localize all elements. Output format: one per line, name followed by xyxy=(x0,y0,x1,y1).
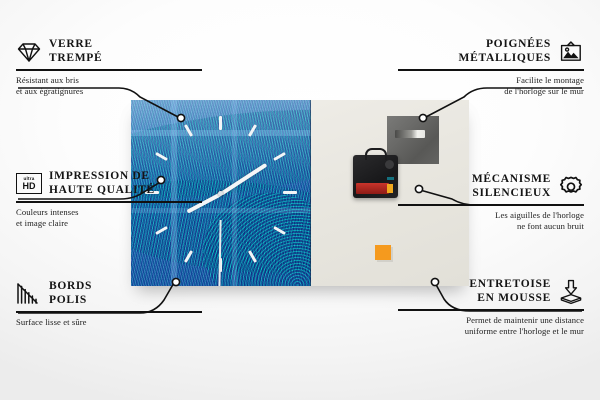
feature-mecanisme-silencieux[interactable]: MÉCANISME SILENCIEUX Les aiguilles de l'… xyxy=(398,173,584,233)
feature-title-line2: SILENCIEUX xyxy=(472,187,551,201)
feature-subtitle-line1: Résistant aux bris xyxy=(16,75,202,87)
feature-divider xyxy=(16,311,202,312)
feature-divider xyxy=(398,204,584,205)
feature-subtitle: Facilite le montage de l'horloge sur le … xyxy=(398,75,584,98)
feature-title-line1: IMPRESSION DE xyxy=(49,170,155,184)
polished-edge-icon xyxy=(16,282,42,306)
ultra-hd-icon-main-text: HD xyxy=(23,182,36,191)
feature-title: VERRE TREMPÉ xyxy=(49,38,102,65)
feature-subtitle-line1: Permet de maintenir une distance xyxy=(398,315,584,327)
ultra-hd-icon: ultra HD xyxy=(16,172,42,196)
feature-impression-haute-qualite[interactable]: ultra HD IMPRESSION DE HAUTE QUALITÉ Cou… xyxy=(16,170,202,230)
mechanism-contact xyxy=(387,177,394,180)
diamond-icon xyxy=(16,40,42,64)
feature-subtitle: Couleurs intenses et image claire xyxy=(16,207,202,230)
feature-title-line1: MÉCANISME xyxy=(472,173,551,187)
feature-subtitle-line1: Les aiguilles de l'horloge xyxy=(398,210,584,222)
feature-title-line1: ENTRETOISE xyxy=(469,278,551,292)
hanger-slot xyxy=(395,130,425,138)
feature-title: MÉCANISME SILENCIEUX xyxy=(472,173,551,200)
feature-subtitle-line1: Couleurs intenses xyxy=(16,207,202,219)
framed-picture-icon xyxy=(558,40,584,64)
battery-terminal xyxy=(387,184,393,193)
feature-subtitle-line2: et aux égratignures xyxy=(16,86,202,98)
clock-hub xyxy=(218,191,223,196)
infographic-canvas: VERRE TREMPÉ Résistant aux bris et aux é… xyxy=(0,0,600,400)
feature-title-line2: MÉTALLIQUES xyxy=(459,52,551,66)
feature-subtitle: Résistant aux bris et aux égratignures xyxy=(16,75,202,98)
feature-title-line2: EN MOUSSE xyxy=(469,292,551,306)
feature-entretoise-en-mousse[interactable]: ENTRETOISE EN MOUSSE Permet de maintenir… xyxy=(398,278,584,338)
feature-subtitle-line1: Surface lisse et sûre xyxy=(16,317,202,329)
face-grid-line-h1 xyxy=(131,130,311,136)
feature-subtitle: Les aiguilles de l'horloge ne font aucun… xyxy=(398,210,584,233)
clock-mechanism-box xyxy=(353,155,398,198)
feature-divider xyxy=(16,69,202,70)
feature-subtitle-line1: Facilite le montage xyxy=(398,75,584,87)
feature-title-line1: POIGNÉES xyxy=(459,38,551,52)
feature-title: ENTRETOISE EN MOUSSE xyxy=(469,278,551,305)
feature-verre-trempe[interactable]: VERRE TREMPÉ Résistant aux bris et aux é… xyxy=(16,38,202,98)
feature-title: POIGNÉES MÉTALLIQUES xyxy=(459,38,551,65)
press-down-pad-icon xyxy=(558,280,584,304)
feature-title-line2: TREMPÉ xyxy=(49,52,102,66)
feature-title-line2: POLIS xyxy=(49,294,92,308)
feature-bords-polis[interactable]: BORDS POLIS Surface lisse et sûre xyxy=(16,280,202,328)
clock-tick xyxy=(219,116,222,130)
feature-subtitle-line2: ne font aucun bruit xyxy=(398,221,584,233)
mechanism-dial xyxy=(385,160,394,169)
battery xyxy=(356,183,389,194)
feature-divider xyxy=(16,201,202,202)
feature-subtitle-line2: de l'horloge sur le mur xyxy=(398,86,584,98)
feature-divider xyxy=(398,309,584,310)
feature-subtitle-line2: uniforme entre l'horloge et le mur xyxy=(398,326,584,338)
feature-title-line1: VERRE xyxy=(49,38,102,52)
feature-subtitle-line2: et image claire xyxy=(16,218,202,230)
face-grid-line-v2 xyxy=(232,100,237,286)
gear-icon xyxy=(558,175,584,199)
feature-title-line1: BORDS xyxy=(49,280,92,294)
mechanism-hook xyxy=(365,148,387,160)
feature-divider xyxy=(398,69,584,70)
feature-poignees-metalliques[interactable]: POIGNÉES MÉTALLIQUES Facilite le montage… xyxy=(398,38,584,98)
feature-title: BORDS POLIS xyxy=(49,280,92,307)
feature-title-line2: HAUTE QUALITÉ xyxy=(49,184,155,198)
feature-title: IMPRESSION DE HAUTE QUALITÉ xyxy=(49,170,155,197)
clock-tick xyxy=(283,191,297,194)
feature-subtitle: Surface lisse et sûre xyxy=(16,317,202,329)
feature-subtitle: Permet de maintenir une distance uniform… xyxy=(398,315,584,338)
foam-spacer xyxy=(375,245,391,260)
